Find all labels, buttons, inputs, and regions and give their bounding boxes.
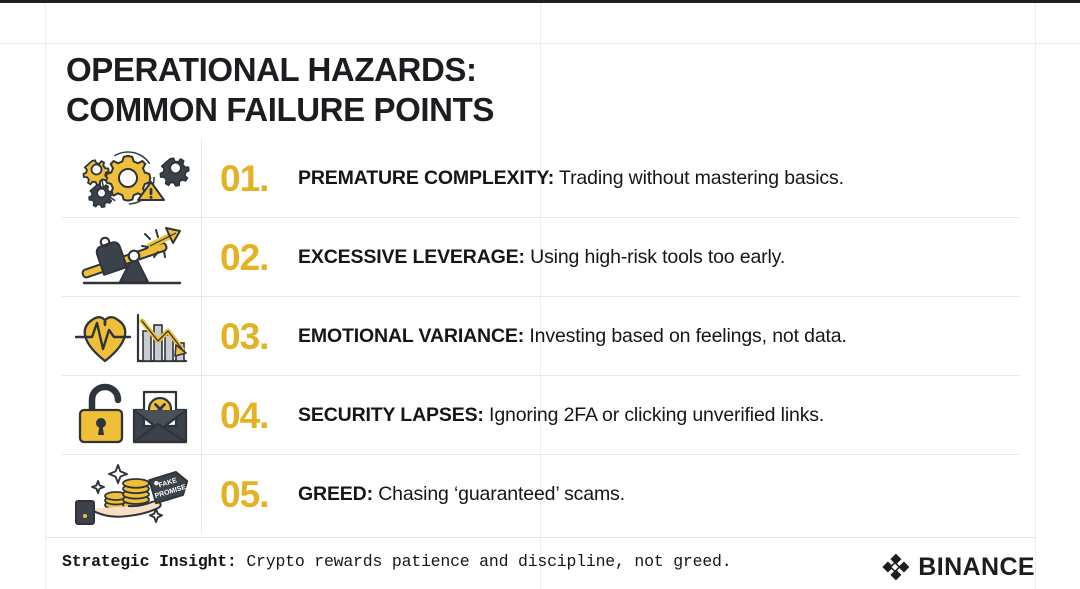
heartbeat-declining-chart-icon [62,297,202,375]
list-item: 04. SECURITY LAPSES: Ignoring 2FA or cli… [62,376,1020,455]
hazard-list: 01. PREMATURE COMPLEXITY: Trading withou… [62,139,1020,533]
page-title: OPERATIONAL HAZARDS: COMMON FAILURE POIN… [66,50,494,130]
list-item-number: 04. [202,397,298,434]
list-item-lead: PREMATURE COMPLEXITY: [298,167,554,189]
list-item-lead: GREED: [298,483,373,505]
list-item-desc: Investing based on feelings, not data. [524,325,847,347]
hand-coins-fake-promise-tag-icon: FAKE PROMISE [62,455,202,533]
binance-diamond-logo [881,553,909,581]
list-item: 01. PREMATURE COMPLEXITY: Trading withou… [62,139,1020,218]
list-item-desc: Using high-risk tools too early. [525,246,785,268]
list-item-text: SECURITY LAPSES: Ignoring 2FA or clickin… [298,403,1020,427]
open-padlock-phishing-envelope-icon [62,376,202,454]
lever-weight-arrow-icon [62,218,202,296]
binance-wordmark: BINANCE [918,555,1035,580]
list-item-number: 01. [202,160,298,197]
strategic-insight-body: Crypto rewards patience and discipline, … [237,552,732,571]
list-item: FAKE PROMISE 05. GREED: Chasing ‘guarant… [62,455,1020,533]
list-item-lead: EXCESSIVE LEVERAGE: [298,246,525,268]
gears-warning-icon [62,139,202,217]
list-item-lead: SECURITY LAPSES: [298,404,484,426]
strategic-insight: Strategic Insight: Crypto rewards patien… [62,552,731,572]
top-black-bar [0,0,1080,3]
list-item-number: 03. [202,318,298,355]
list-item-number: 02. [202,239,298,276]
list-item-text: EMOTIONAL VARIANCE: Investing based on f… [298,324,1020,348]
list-item-text: EXCESSIVE LEVERAGE: Using high-risk tool… [298,245,1020,269]
list-item-lead: EMOTIONAL VARIANCE: [298,325,524,347]
list-item-desc: Chasing ‘guaranteed’ scams. [373,483,625,505]
list-item-text: GREED: Chasing ‘guaranteed’ scams. [298,482,1020,506]
slide-page: OPERATIONAL HAZARDS: COMMON FAILURE POIN… [0,0,1080,589]
list-item-desc: Trading without mastering basics. [554,167,844,189]
list-item: 03. EMOTIONAL VARIANCE: Investing based … [62,297,1020,376]
binance-brand: BINANCE [881,553,1035,581]
list-item-text: PREMATURE COMPLEXITY: Trading without ma… [298,166,1020,190]
strategic-insight-label: Strategic Insight: [62,552,237,571]
footer-divider [45,537,1035,538]
footer: Strategic Insight: Crypto rewards patien… [62,552,1035,589]
list-item-number: 05. [202,476,298,513]
list-item: 02. EXCESSIVE LEVERAGE: Using high-risk … [62,218,1020,297]
list-item-desc: Ignoring 2FA or clicking unverified link… [484,404,824,426]
